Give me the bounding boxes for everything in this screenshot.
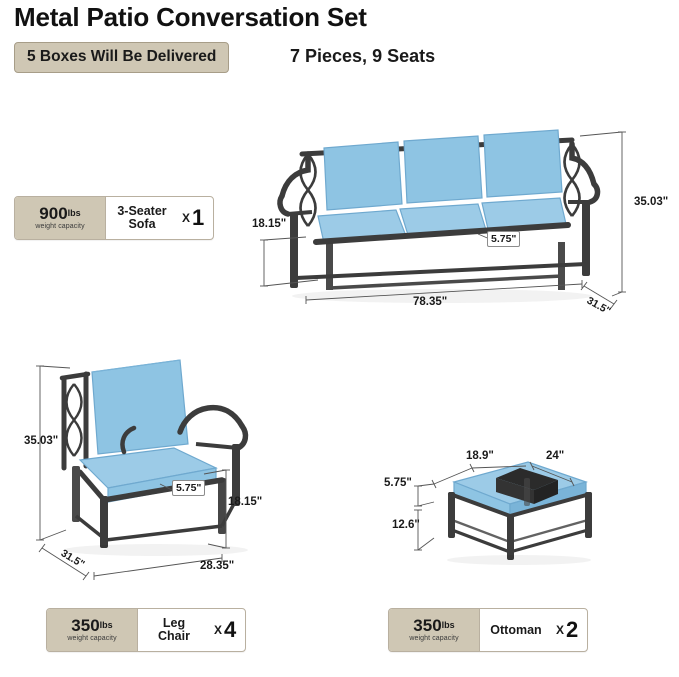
ottoman-cushion-thickness-dim: 5.75" (384, 477, 412, 489)
badge-item-name: Ottoman (480, 609, 552, 651)
badge-qty-x: X (214, 623, 222, 637)
badge-weight-caption: weight capacity (409, 635, 458, 642)
chair-overall-height-dim: 35.03" (24, 435, 58, 447)
chair-cushion-thickness-dim: 5.75" (172, 480, 205, 496)
ottoman-dimension-lines (386, 446, 616, 576)
chair-width-dim: 28.35" (200, 560, 234, 572)
badge-weight-caption: weight capacity (35, 223, 84, 230)
badge-weight-capacity: 350lbs weight capacity (47, 609, 138, 651)
badge-quantity: X 1 (178, 197, 213, 239)
sofa-cushion-thickness-dim: 5.75" (487, 231, 520, 247)
ottoman-height-dim: 12.6" (392, 519, 420, 531)
sofa-width-dim: 78.35" (413, 296, 447, 308)
sofa-dimension-lines (240, 110, 660, 330)
badge-quantity: X 4 (210, 609, 245, 651)
badge-weight-value: 900lbs (39, 206, 80, 221)
badge-weight-capacity: 900lbs weight capacity (15, 197, 106, 239)
chair-dimension-lines (14, 352, 294, 582)
sofa-overall-height-dim: 35.03" (634, 196, 668, 208)
badge-3-seater-sofa: 900lbs weight capacity 3-SeaterSofa X 1 (14, 196, 214, 240)
badge-qty-value: 2 (566, 619, 578, 641)
badge-qty-x: X (182, 211, 190, 225)
badge-weight-value: 350lbs (71, 618, 112, 633)
sofa-seat-height-dim: 18.15" (252, 218, 286, 230)
badge-ottoman: 350lbs weight capacity Ottoman X 2 (388, 608, 588, 652)
badge-item-name: 3-SeaterSofa (106, 197, 178, 239)
product-spec-page: Metal Patio Conversation Set 5 Boxes Wil… (0, 0, 679, 677)
badge-weight-value: 350lbs (413, 618, 454, 633)
boxes-delivered-badge: 5 Boxes Will Be Delivered (14, 42, 229, 73)
badge-qty-value: 1 (192, 207, 204, 229)
pieces-seats-label: 7 Pieces, 9 Seats (290, 46, 435, 67)
ottoman-width-dim: 24" (546, 450, 564, 462)
page-title: Metal Patio Conversation Set (14, 2, 367, 33)
badge-weight-capacity: 350lbs weight capacity (389, 609, 480, 651)
badge-leg-chair: 350lbs weight capacity LegChair X 4 (46, 608, 246, 652)
badge-qty-x: X (556, 623, 564, 637)
badge-quantity: X 2 (552, 609, 587, 651)
badge-item-name: LegChair (138, 609, 210, 651)
badge-qty-value: 4 (224, 619, 236, 641)
badge-weight-caption: weight capacity (67, 635, 116, 642)
chair-seat-height-dim: 18.15" (228, 496, 262, 508)
ottoman-depth-dim: 18.9" (466, 450, 494, 462)
